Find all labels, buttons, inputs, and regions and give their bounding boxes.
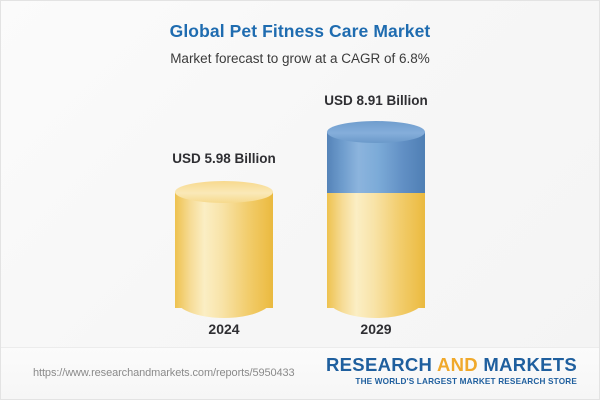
- bar-value-label-2024: USD 5.98 Billion: [164, 151, 284, 166]
- brand-word-research: RESEARCH: [326, 354, 432, 375]
- chart-title: Global Pet Fitness Care Market: [1, 21, 599, 42]
- footer: https://www.researchandmarkets.com/repor…: [1, 347, 599, 399]
- bar-base-2029: [327, 298, 425, 318]
- bar-segment-base-2024: [175, 192, 273, 308]
- brand-tagline: THE WORLD'S LARGEST MARKET RESEARCH STOR…: [326, 377, 577, 386]
- chart-header: Global Pet Fitness Care Market Market fo…: [1, 1, 599, 66]
- bar-year-label-2029: 2029: [316, 321, 436, 337]
- bar-segment-base-2029: [327, 192, 425, 308]
- bar-top-cap-2029: [327, 121, 425, 143]
- bar-top-cap-2024: [175, 181, 273, 203]
- bar-year-label-2024: 2024: [164, 321, 284, 337]
- chart-plot-area: USD 5.98 Billion 2024 USD 8.91 Billion 2…: [1, 83, 599, 349]
- bar-base-2024: [175, 298, 273, 318]
- brand-logo-wordmark: RESEARCH AND MARKETS: [326, 355, 577, 374]
- source-url-link[interactable]: https://www.researchandmarkets.com/repor…: [33, 367, 295, 379]
- brand-logo[interactable]: RESEARCH AND MARKETS THE WORLD'S LARGEST…: [326, 355, 577, 386]
- brand-word-and: AND: [437, 354, 478, 375]
- cylinder-2024[interactable]: [175, 181, 273, 308]
- infographic-card: Global Pet Fitness Care Market Market fo…: [0, 0, 600, 400]
- chart-subtitle: Market forecast to grow at a CAGR of 6.8…: [1, 51, 599, 66]
- brand-word-markets: MARKETS: [483, 354, 577, 375]
- cylinder-2029[interactable]: [327, 121, 425, 308]
- bar-value-label-2029: USD 8.91 Billion: [316, 93, 436, 108]
